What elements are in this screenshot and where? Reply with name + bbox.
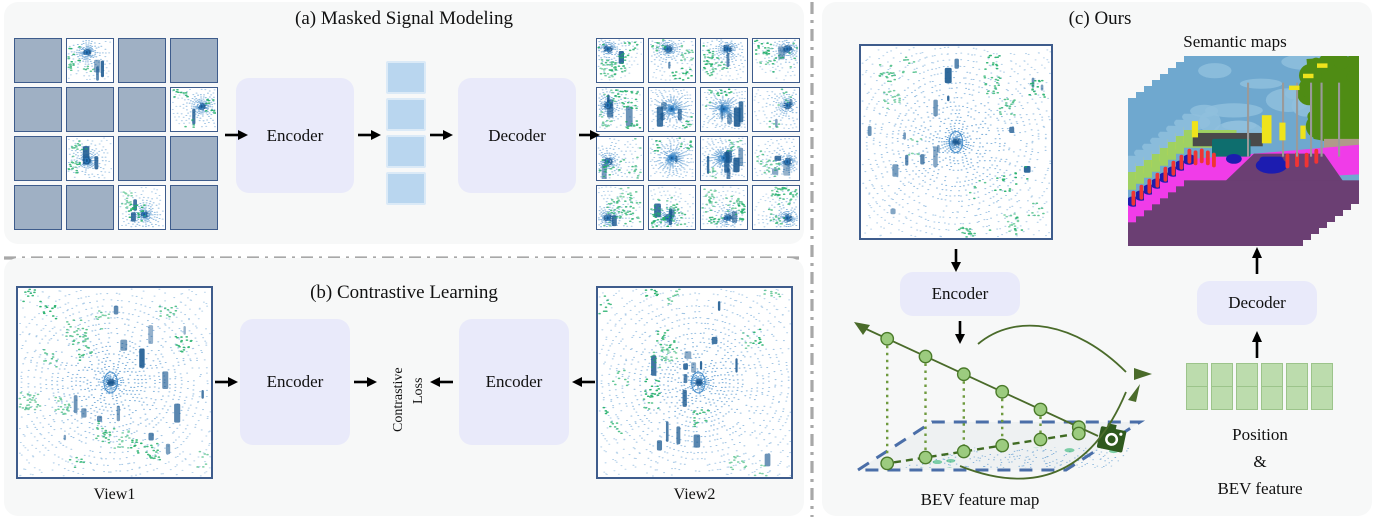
bev-token <box>1311 363 1333 410</box>
masked-input-grid <box>14 38 222 233</box>
latent-token <box>386 61 426 94</box>
reconstructed-patch <box>752 185 800 230</box>
reconstructed-patch <box>596 38 644 83</box>
latent-token-stack <box>386 61 428 209</box>
semantic-maps-stack <box>1128 56 1368 246</box>
divider-vertical <box>810 2 814 517</box>
panel-c-decoder-box: Decoder <box>1197 281 1317 325</box>
contrastive-loss-label-line2: Loss <box>411 378 427 404</box>
arrow-right-encoder-to-loss <box>428 373 454 396</box>
divider-horizontal <box>4 247 804 251</box>
position-bev-token-row <box>1186 363 1334 413</box>
reconstructed-output-grid <box>596 38 804 233</box>
view1-caption: View1 <box>16 486 213 504</box>
panel-a-decoder-box: Decoder <box>458 78 576 193</box>
token-label-line3: BEV feature <box>1171 479 1349 499</box>
semantic-maps-label: Semantic maps <box>1110 32 1360 52</box>
bev-ray-diagram <box>840 318 1160 488</box>
bev-token-feature-half <box>1212 387 1232 410</box>
bev-token <box>1286 363 1308 410</box>
bev-token-feature-half <box>1262 387 1282 410</box>
arrow-decoder-to-semantic-maps <box>1248 245 1266 280</box>
bev-token-position-half <box>1312 364 1332 387</box>
masked-patch <box>170 185 218 230</box>
reconstructed-patch <box>752 136 800 181</box>
bev-token-position-half <box>1212 364 1232 387</box>
reconstructed-patch <box>596 185 644 230</box>
bev-token <box>1211 363 1233 410</box>
arrow-view1-to-encoder <box>214 373 240 396</box>
visible-patch <box>66 136 114 181</box>
reconstructed-patch <box>752 87 800 132</box>
arrow-input-to-encoder <box>224 126 250 149</box>
token-label-line2: & <box>1186 452 1334 472</box>
reconstructed-patch <box>648 185 696 230</box>
bev-token <box>1186 363 1208 410</box>
reconstructed-patch <box>700 87 748 132</box>
bev-feature-map-label: BEV feature map <box>880 490 1080 510</box>
view1-lidar-image <box>16 286 213 479</box>
bev-token <box>1236 363 1258 410</box>
masked-patch <box>14 87 62 132</box>
panel-c-input-lidar-image <box>859 44 1053 240</box>
visible-patch <box>170 87 218 132</box>
bev-token-position-half <box>1237 364 1257 387</box>
arrow-decoder-to-output <box>578 126 602 149</box>
bev-token-feature-half <box>1237 387 1257 410</box>
masked-patch <box>170 136 218 181</box>
reconstructed-patch <box>596 136 644 181</box>
arrow-encoder-to-latent <box>357 126 383 149</box>
view2-caption: View2 <box>596 486 793 504</box>
token-label-line1: Position <box>1186 425 1334 445</box>
masked-patch <box>66 185 114 230</box>
panel-a-title: (a) Masked Signal Modeling <box>144 8 664 30</box>
bev-token-position-half <box>1187 364 1207 387</box>
panel-c-decoder-label: Decoder <box>1228 293 1286 313</box>
reconstructed-patch <box>700 136 748 181</box>
masked-patch <box>170 38 218 83</box>
view2-lidar-image <box>596 286 793 479</box>
reconstructed-patch <box>700 185 748 230</box>
visible-patch <box>118 185 166 230</box>
semantic-map-layer <box>1184 56 1359 204</box>
reconstructed-patch <box>752 38 800 83</box>
latent-token <box>386 98 426 131</box>
masked-patch <box>118 87 166 132</box>
latent-token <box>386 135 426 168</box>
visible-patch <box>66 38 114 83</box>
bev-token-feature-half <box>1312 387 1332 410</box>
bev-token-position-half <box>1287 364 1307 387</box>
bev-token-position-half <box>1262 364 1282 387</box>
masked-patch <box>14 136 62 181</box>
panel-c-encoder-label: Encoder <box>932 284 989 304</box>
arrow-left-encoder-to-loss <box>353 373 379 396</box>
panel-b-title: (b) Contrastive Learning <box>144 282 664 304</box>
reconstructed-patch <box>700 38 748 83</box>
latent-token <box>386 172 426 205</box>
contrastive-loss-label-line1: Contrastive <box>391 367 407 432</box>
panel-a-decoder-label: Decoder <box>488 126 546 146</box>
panel-b-left-encoder-box: Encoder <box>240 319 350 445</box>
masked-patch <box>118 38 166 83</box>
reconstructed-patch <box>648 38 696 83</box>
panel-a-encoder-label: Encoder <box>267 126 324 146</box>
bev-token-feature-half <box>1287 387 1307 410</box>
masked-patch <box>14 185 62 230</box>
reconstructed-patch <box>596 87 644 132</box>
reconstructed-patch <box>648 136 696 181</box>
panel-b-right-encoder-label: Encoder <box>486 372 543 392</box>
panel-a-encoder-box: Encoder <box>236 78 354 193</box>
arrow-tokens-to-decoder <box>1248 329 1266 364</box>
reconstructed-patch <box>648 87 696 132</box>
masked-patch <box>118 136 166 181</box>
panel-c-encoder-box: Encoder <box>900 272 1020 316</box>
masked-patch <box>66 87 114 132</box>
arrow-view2-to-encoder <box>570 373 596 396</box>
panel-b-right-encoder-box: Encoder <box>459 319 569 445</box>
panel-c-title: (c) Ours <box>980 8 1220 30</box>
bev-token <box>1261 363 1283 410</box>
masked-patch <box>14 38 62 83</box>
bev-token-feature-half <box>1187 387 1207 410</box>
arrow-latent-to-decoder <box>429 126 455 149</box>
panel-b-left-encoder-label: Encoder <box>267 372 324 392</box>
